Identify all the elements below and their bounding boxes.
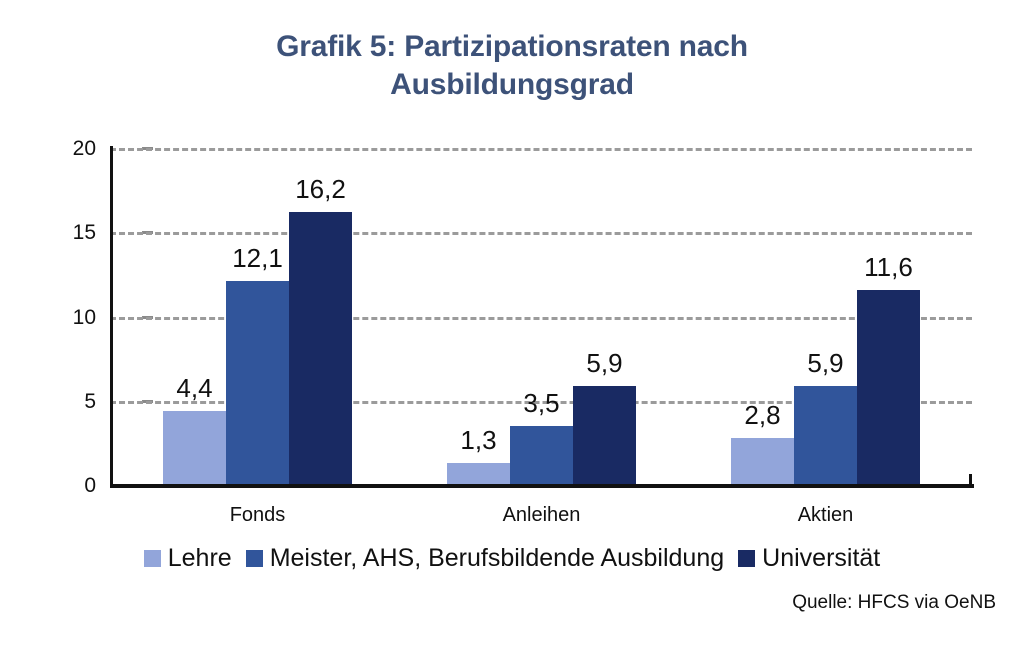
legend-label: Meister, AHS, Berufsbildende Ausbildung — [270, 545, 724, 572]
legend-swatch-icon — [738, 550, 755, 567]
chart-title-line-1: Grafik 5: Partizipationsraten nach — [130, 28, 894, 66]
legend-swatch-icon — [144, 550, 161, 567]
legend-label: Universität — [762, 545, 880, 572]
x-axis-category-label: Fonds — [123, 504, 392, 526]
x-axis-line — [110, 484, 974, 488]
chart-legend: LehreMeister, AHS, Berufsbildende Ausbil… — [0, 545, 1024, 572]
legend-item[interactable]: Meister, AHS, Berufsbildende Ausbildung — [246, 545, 724, 572]
legend-swatch-icon — [246, 550, 263, 567]
y-axis-tick-label: 10 — [36, 307, 96, 328]
bar — [731, 438, 794, 485]
x-axis-category-label: Anleihen — [407, 504, 676, 526]
gridline — [110, 232, 972, 235]
legend-item[interactable]: Lehre — [144, 545, 232, 572]
y-axis-tick-label: 15 — [36, 222, 96, 243]
bar — [226, 281, 289, 485]
chart-title-line-2: Ausbildungsgrad — [130, 66, 894, 104]
x-axis-end-tick — [969, 474, 972, 486]
bar — [163, 411, 226, 485]
bar-value-label: 16,2 — [273, 176, 368, 202]
y-axis-tick-label: 0 — [36, 475, 96, 496]
y-axis-tick-labels: 05101520 — [32, 148, 96, 485]
chart-canvas: Grafik 5: Partizipationsraten nach Ausbi… — [0, 0, 1024, 652]
y-axis-tick-label: 20 — [36, 138, 96, 159]
bar-value-label: 11,6 — [841, 254, 936, 280]
bar — [573, 386, 636, 485]
x-axis-end-tick — [110, 474, 113, 486]
source-note: Quelle: HFCS via OeNB — [792, 592, 996, 614]
legend-label: Lehre — [168, 545, 232, 572]
bar — [794, 386, 857, 485]
y-axis-tick-label: 5 — [36, 391, 96, 412]
plot-area: 4,412,116,21,33,55,92,85,911,6 — [110, 148, 972, 485]
x-axis-category-label: Aktien — [691, 504, 960, 526]
bar — [289, 212, 352, 485]
bar — [447, 463, 510, 485]
legend-item[interactable]: Universität — [738, 545, 880, 572]
page-title: Grafik 5: Partizipationsraten nach Ausbi… — [130, 28, 894, 104]
gridline — [110, 148, 972, 151]
bar — [857, 290, 920, 485]
y-axis-line — [110, 146, 113, 487]
bar — [510, 426, 573, 485]
bar-value-label: 5,9 — [557, 350, 652, 376]
